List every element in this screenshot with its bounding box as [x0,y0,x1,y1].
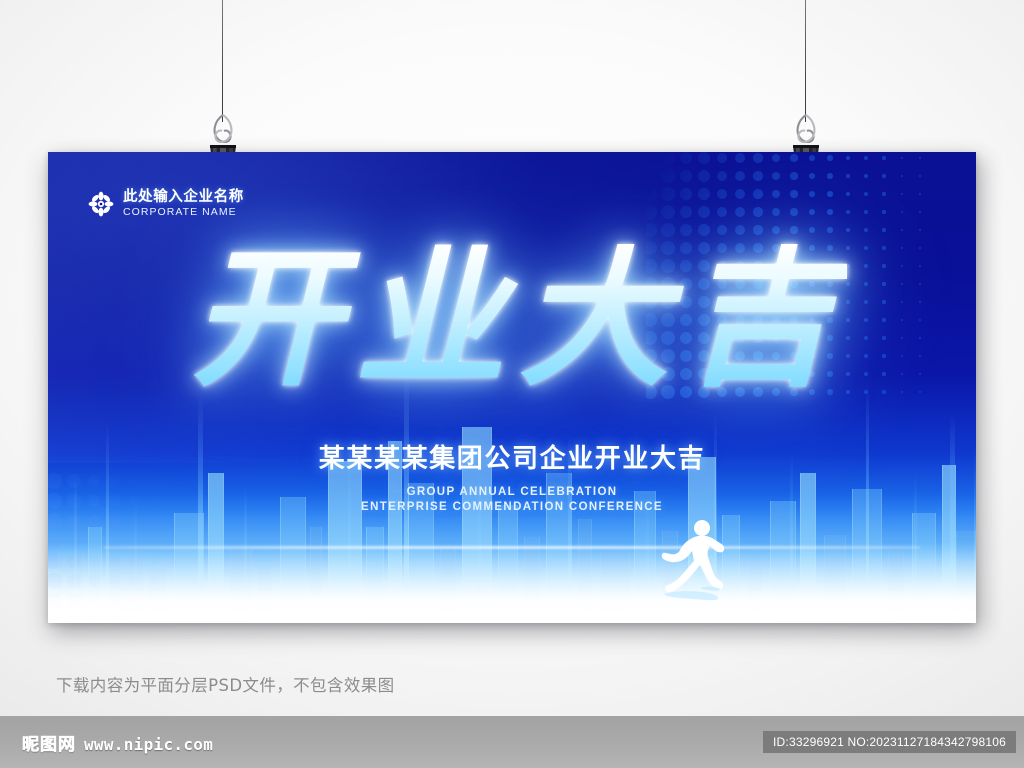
subtitle-cn: 某某某某集团公司企业开业大吉 [48,438,976,475]
skyline-building [280,497,306,623]
skyline-building [258,565,272,623]
halftone-dot-pattern-top-right [646,152,976,402]
skyline-building [310,527,322,623]
skyline-building [88,527,102,623]
scene-background: 此处输入企业名称 CORPORATE NAME 开业大吉 某某某某集团公司企业开… [0,0,1024,768]
watermark-url: www.nipic.com [84,735,213,754]
light-streak [134,503,137,623]
skyline-building [770,501,796,623]
flower-mark-icon [88,191,114,217]
hanging-wire-right [805,0,806,122]
watermark-brand-cn: 昵图网 [22,730,76,755]
corporate-logo-lockup: 此处输入企业名称 CORPORATE NAME [88,190,244,218]
skyline-building [600,553,630,623]
skyline-building [498,505,518,623]
company-name-en: CORPORATE NAME [123,207,244,218]
download-note-caption: 下载内容为平面分层PSD文件，不包含效果图 [56,672,395,696]
footer-bar: 昵图网 www.nipic.com ID:33296921 NO:2023112… [0,716,1024,768]
skyline-building [58,553,84,623]
skyline-building [824,535,846,623]
skyline-building [912,513,936,623]
corporate-logo-text: 此处输入企业名称 CORPORATE NAME [123,190,244,218]
poster-artboard: 此处输入企业名称 CORPORATE NAME 开业大吉 某某某某集团公司企业开… [48,152,976,623]
skyline-building [524,537,540,623]
skyline-building [148,569,166,623]
skyline-building [110,561,144,623]
asset-id-badge: ID:33296921 NO:20231127184342798106 [763,731,1016,753]
subtitle-en-line2: ENTERPRISE COMMENDATION CONFERENCE [48,501,976,513]
skyline-building [888,551,904,623]
skyline-building [578,519,592,623]
running-person-icon [658,517,730,601]
main-title-text: 开业大吉 [177,244,847,394]
skyline-building [956,531,976,623]
subtitle-block: 某某某某集团公司企业开业大吉 GROUP ANNUAL CELEBRATION … [48,438,976,513]
skyline-building [440,549,456,623]
hanging-wire-left [222,0,223,122]
site-watermark: 昵图网 www.nipic.com [22,730,213,755]
skyline-building [174,513,204,623]
ground-glow-line [104,546,921,549]
skyline-building [366,527,384,623]
main-title: 开业大吉 [48,244,976,394]
skyline-building [230,549,252,623]
subtitle-en-line1: GROUP ANNUAL CELEBRATION [48,486,976,498]
skyline-building [748,559,762,623]
company-name-cn: 此处输入企业名称 [123,190,244,205]
